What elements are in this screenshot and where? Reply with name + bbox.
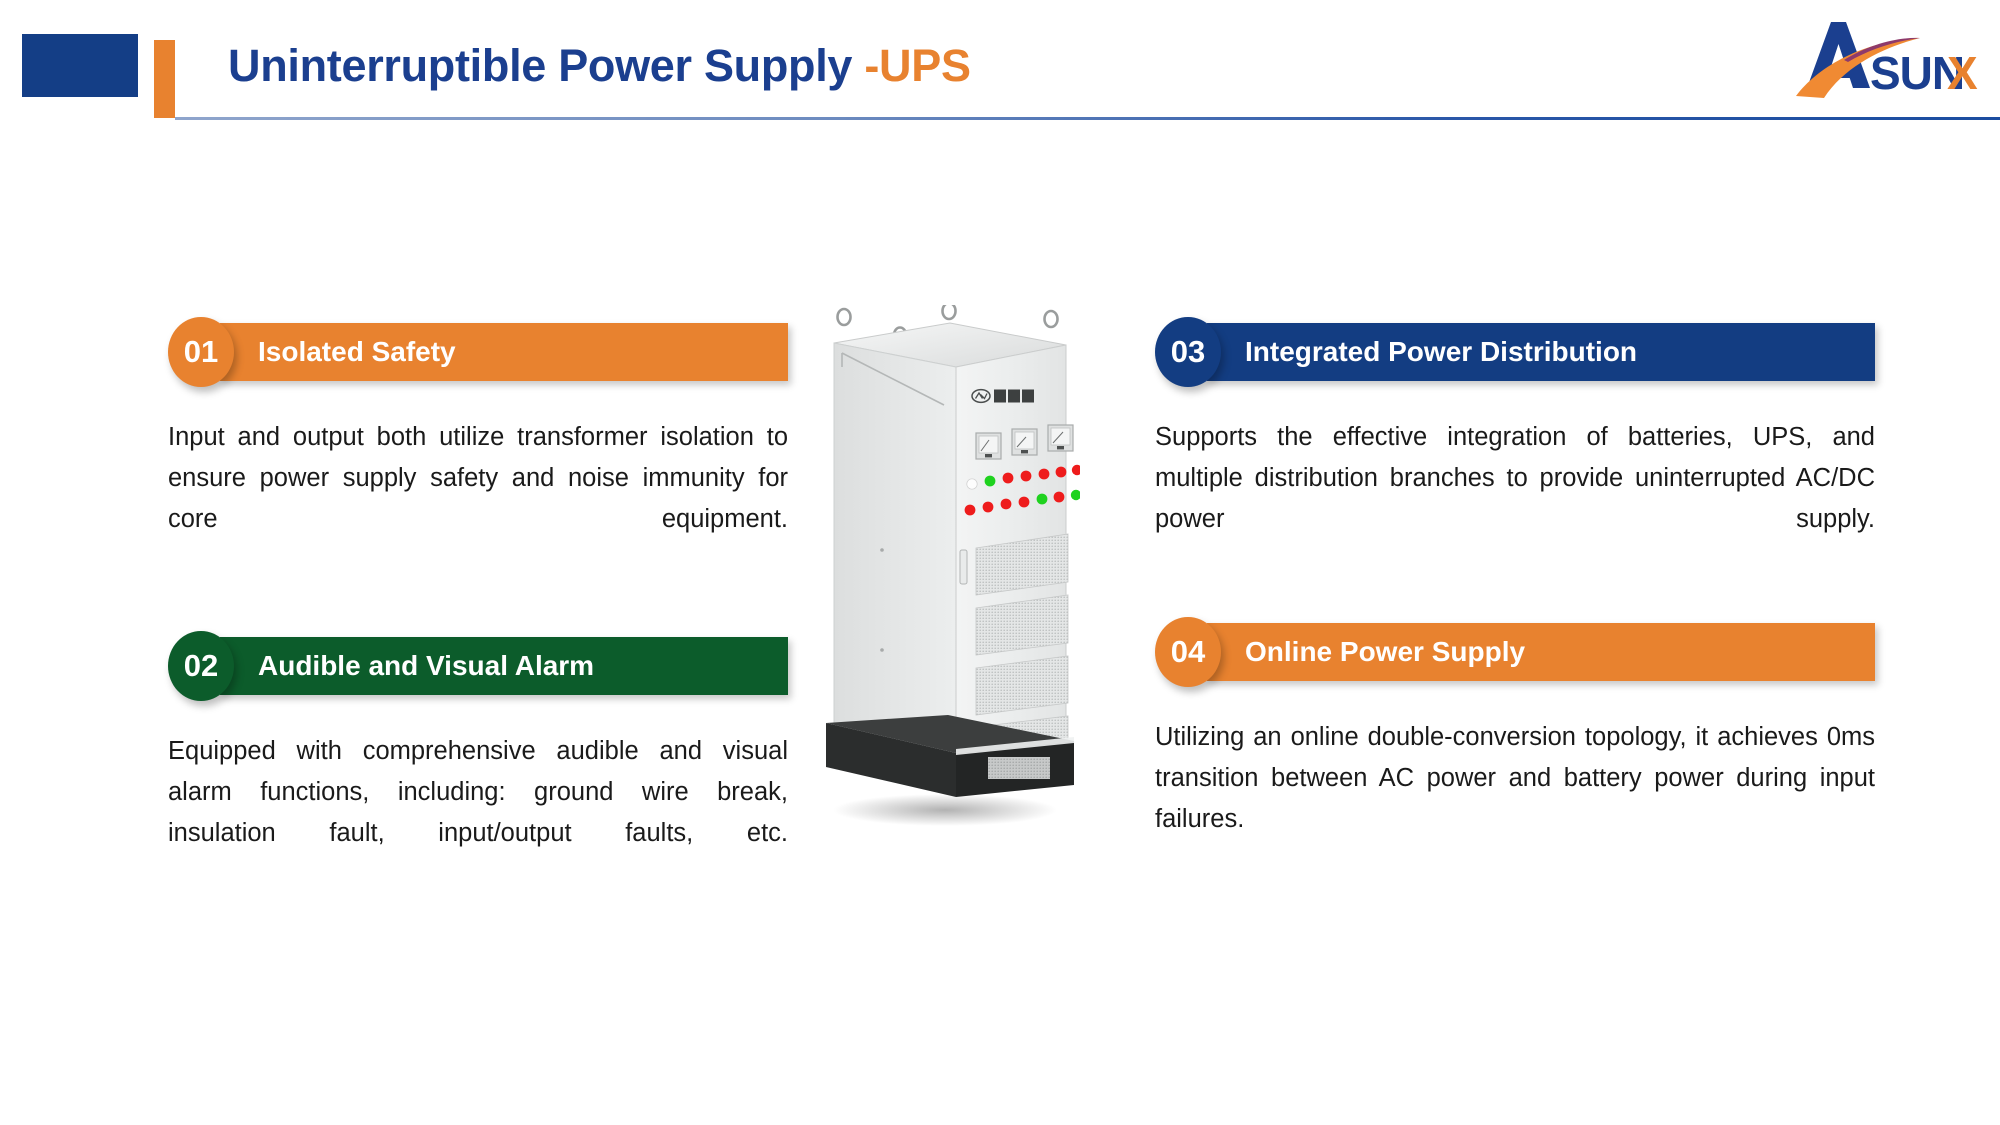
header-underline — [175, 117, 2000, 120]
feature-card-02-number-badge: 02 — [168, 631, 234, 701]
feature-card-01-body: Input and output both utilize transforme… — [168, 417, 788, 581]
page-title: Uninterruptible Power Supply -UPS — [228, 36, 971, 96]
feature-card-03-title: Integrated Power Distribution — [1245, 336, 1637, 368]
feature-card-02: Audible and Visual Alarm 02 Equipped wit… — [168, 637, 788, 895]
feature-card-04-number-badge: 04 — [1155, 617, 1221, 687]
feature-card-01-header: Isolated Safety 01 — [168, 323, 788, 381]
feature-card-01-title: Isolated Safety — [258, 336, 456, 368]
feature-card-04-title: Online Power Supply — [1245, 636, 1525, 668]
cabinet-ground-shadow — [833, 794, 1057, 826]
feature-card-03-bar: Integrated Power Distribution — [1207, 323, 1875, 381]
feature-card-01-bar: Isolated Safety — [220, 323, 788, 381]
slide-canvas: Uninterruptible Power Supply -UPS SUN X … — [0, 0, 2000, 1125]
svg-text:X: X — [1947, 47, 1978, 99]
brand-logo: SUN X — [1784, 16, 1982, 104]
feature-card-03-body: Supports the effective integration of ba… — [1155, 417, 1875, 581]
feature-card-01-number-badge: 01 — [168, 317, 234, 387]
cabinet-side-screw — [880, 548, 884, 552]
cabinet-side-panel — [834, 343, 956, 760]
feature-card-03-header: Integrated Power Distribution 03 — [1155, 323, 1875, 381]
header-blue-block — [22, 34, 138, 97]
feature-card-04-bar: Online Power Supply — [1207, 623, 1875, 681]
feature-card-03: Integrated Power Distribution 03 Support… — [1155, 323, 1875, 581]
feature-card-02-title: Audible and Visual Alarm — [258, 650, 594, 682]
page-title-main: Uninterruptible Power Supply — [228, 40, 864, 91]
ups-cabinet-photo — [820, 305, 1080, 835]
feature-card-02-header: Audible and Visual Alarm 02 — [168, 637, 788, 695]
feature-card-04-header: Online Power Supply 04 — [1155, 623, 1875, 681]
page-title-accent: -UPS — [864, 40, 970, 91]
feature-card-04: Online Power Supply 04 Utilizing an onli… — [1155, 623, 1875, 881]
cabinet-door-handle — [960, 550, 967, 584]
feature-card-01: Isolated Safety 01 Input and output both… — [168, 323, 788, 581]
base-vent-grille — [988, 757, 1050, 779]
feature-card-04-body: Utilizing an online double-conversion to… — [1155, 717, 1875, 881]
header-orange-accent-bar — [154, 40, 175, 118]
feature-card-02-body: Equipped with comprehensive audible and … — [168, 731, 788, 895]
feature-card-03-number-badge: 03 — [1155, 317, 1221, 387]
feature-card-02-bar: Audible and Visual Alarm — [220, 637, 788, 695]
